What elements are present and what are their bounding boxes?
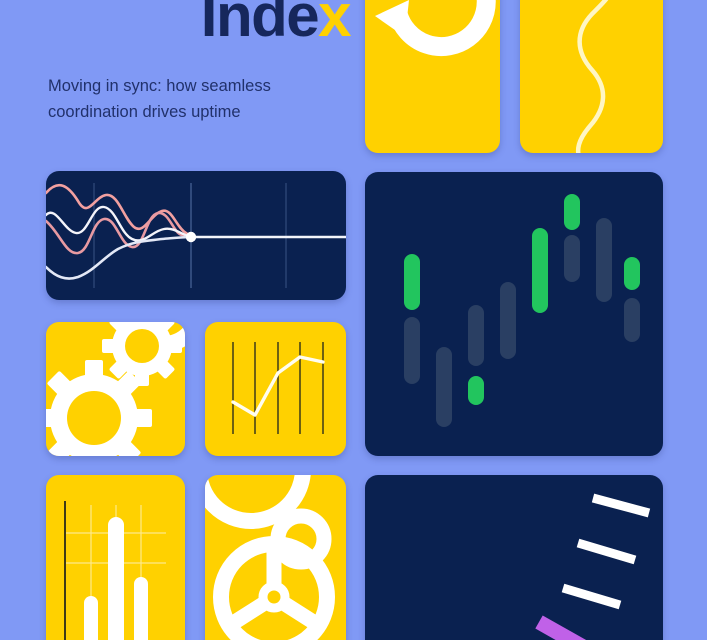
- tick-group: [539, 498, 649, 640]
- page-subtitle: Moving in sync: how seamless coordinatio…: [48, 74, 348, 125]
- refresh-arrow-icon: [365, 0, 500, 153]
- bar-group: [91, 525, 141, 640]
- candle-group: [412, 202, 632, 419]
- gear-top: [102, 322, 182, 386]
- rotor-hub: [263, 586, 285, 608]
- ticks-chart[interactable]: [365, 475, 663, 640]
- rotor-wheel-icon: [205, 475, 346, 640]
- convergence-dot: [186, 232, 196, 242]
- wave-tile[interactable]: [520, 0, 663, 153]
- line-chart-icon: [205, 322, 346, 456]
- sine-wave-icon: [520, 0, 663, 153]
- title-text: Index: [201, 0, 350, 46]
- poster-canvas: Index Moving in sync: how seamless coord…: [0, 0, 707, 640]
- gears-tile[interactable]: [46, 322, 185, 456]
- gears-icon: [46, 322, 185, 456]
- title-accent-letter: x: [318, 0, 350, 49]
- signal-line-d: [46, 237, 191, 279]
- candlestick-icon: [365, 172, 663, 456]
- converging-waves-icon: [46, 171, 346, 300]
- trend-gridlines: [233, 342, 323, 434]
- diagonal-ticks-icon: [365, 475, 663, 640]
- signal-chart[interactable]: [46, 171, 346, 300]
- candles-chart[interactable]: [365, 172, 663, 456]
- trend-chart[interactable]: [205, 322, 346, 456]
- refresh-tile[interactable]: [365, 0, 500, 153]
- rotor-tile[interactable]: [205, 475, 346, 640]
- header: Index Moving in sync: how seamless coord…: [0, 0, 355, 160]
- page-title: Index: [40, 0, 350, 48]
- title-main: Inde: [201, 0, 318, 49]
- bars-chart[interactable]: [46, 475, 185, 640]
- signal-line-b: [46, 213, 191, 253]
- bar-chart-icon: [46, 475, 185, 640]
